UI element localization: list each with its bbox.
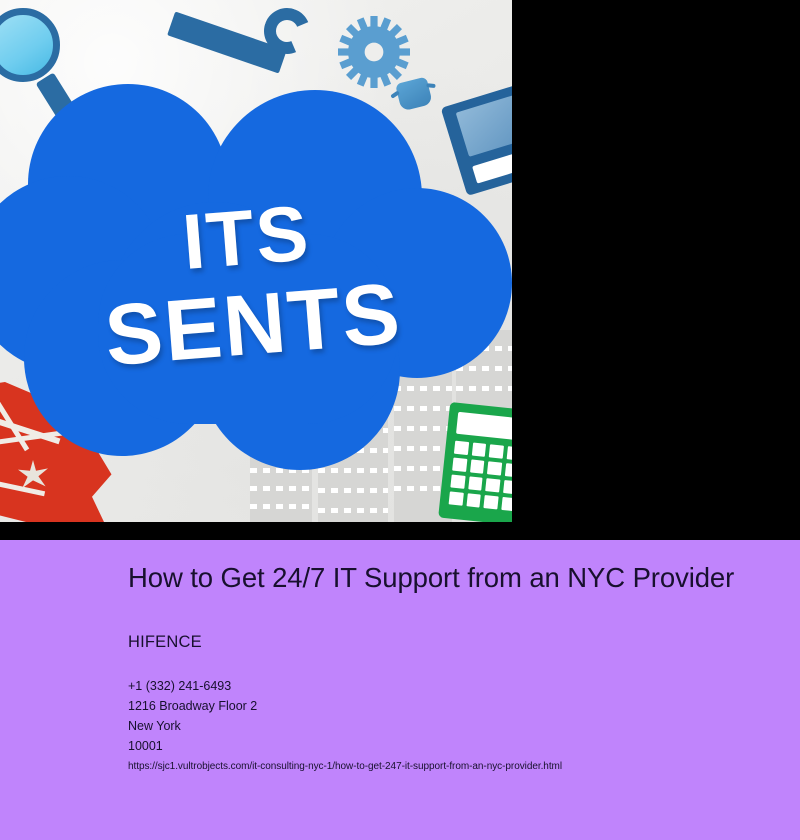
gear-icon (338, 16, 410, 88)
contact-city: New York (128, 716, 748, 736)
page-title: How to Get 24/7 IT Support from an NYC P… (128, 562, 740, 593)
info-panel: How to Get 24/7 IT Support from an NYC P… (0, 540, 800, 840)
contact-block: +1 (332) 241-6493 1216 Broadway Floor 2 … (128, 676, 748, 756)
contact-street: 1216 Broadway Floor 2 (128, 696, 748, 716)
contact-phone[interactable]: +1 (332) 241-6493 (128, 676, 748, 696)
brand-name: HIFENCE (128, 633, 202, 652)
source-url[interactable]: https://sjc1.vultrobjects.com/it-consult… (128, 761, 562, 772)
contact-postal-code: 10001 (128, 736, 748, 756)
cloud-shape: ITS SENTS (0, 84, 512, 484)
hero-image: ITS SENTS (0, 0, 512, 522)
